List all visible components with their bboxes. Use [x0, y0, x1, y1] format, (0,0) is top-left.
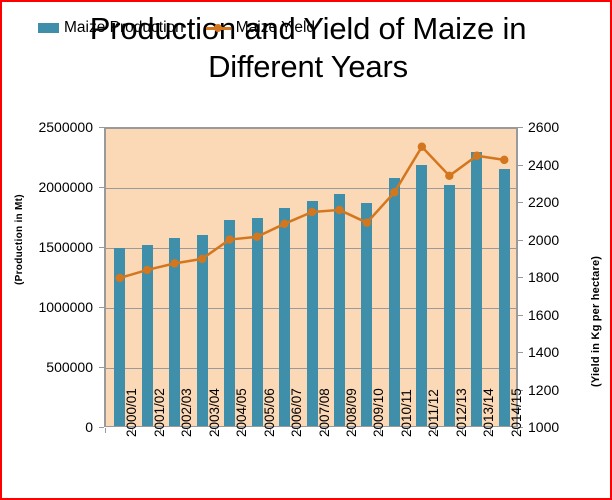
- y-axis-right-tick-label: 2200: [528, 194, 559, 210]
- yield-marker: [225, 235, 233, 243]
- yield-marker: [363, 218, 371, 226]
- x-axis-tick-label: 2012/13: [454, 388, 469, 437]
- x-axis-tick-label: 2003/04: [207, 388, 222, 437]
- chart-legend: Maize Production Maize Yield: [38, 19, 315, 37]
- legend-item-maize-yield[interactable]: Maize Yield: [206, 19, 315, 37]
- y-axis-right-tick: [518, 202, 523, 203]
- yield-marker: [280, 220, 288, 228]
- y-axis-right-tick-label: 1000: [528, 419, 559, 435]
- x-axis-tick-label: 2004/05: [234, 388, 249, 437]
- y-axis-left-tick: [99, 367, 104, 368]
- y-axis-right-tick-label: 1600: [528, 307, 559, 323]
- yield-marker: [500, 156, 508, 164]
- y-axis-right-tick: [518, 315, 523, 316]
- legend-label-maize-production: Maize Production: [64, 19, 184, 37]
- x-axis-tick-label: 2005/06: [262, 388, 277, 437]
- x-axis-tick-label: 2006/07: [289, 388, 304, 437]
- x-axis-tick-label: 2010/11: [399, 389, 414, 437]
- y-axis-right-title: (Yield in Kg per hectare): [590, 256, 602, 387]
- yield-marker: [308, 208, 316, 216]
- legend-label-maize-yield: Maize Yield: [236, 19, 315, 37]
- yield-marker: [418, 143, 426, 151]
- y-axis-left-tick-label: 2500000: [2, 119, 93, 135]
- x-axis-tick-label: 2011/12: [426, 389, 441, 437]
- y-axis-left-tick: [99, 427, 104, 428]
- x-axis-tick-label: 2000/01: [124, 388, 139, 437]
- y-axis-left-title: (Production in Mt): [14, 194, 25, 285]
- y-axis-right-tick: [518, 127, 523, 128]
- x-axis-tick-label: 2008/09: [344, 388, 359, 437]
- x-axis-tick-label: 2001/02: [152, 388, 167, 437]
- yield-marker: [335, 206, 343, 214]
- yield-marker: [170, 259, 178, 267]
- x-axis-tick-label: 2009/10: [371, 388, 386, 437]
- x-axis-tick-label: 2013/14: [481, 388, 496, 437]
- y-axis-left-spine: [104, 127, 105, 427]
- chart-container: Production and Yield of Maize in Differe…: [0, 0, 612, 500]
- legend-swatch-bar-icon: [38, 23, 59, 33]
- y-axis-left-tick: [99, 187, 104, 188]
- y-axis-left-tick-label: 500000: [2, 359, 93, 375]
- y-axis-left-tick: [99, 127, 104, 128]
- y-axis-left-tick-label: 2000000: [2, 179, 93, 195]
- x-axis-tick-label: 2007/08: [317, 388, 332, 437]
- y-axis-left-tick: [99, 307, 104, 308]
- yield-marker: [445, 172, 453, 180]
- yield-markers: [116, 143, 509, 283]
- y-axis-right-tick-label: 2600: [528, 119, 559, 135]
- y-axis-right-tick-label: 2400: [528, 157, 559, 173]
- x-axis-tick-label: 2002/03: [179, 388, 194, 437]
- y-axis-right-tick: [518, 352, 523, 353]
- legend-swatch-line-icon: [206, 23, 231, 33]
- y-axis-left-tick-label: 0: [2, 419, 93, 435]
- y-axis-left-tick: [99, 247, 104, 248]
- y-axis-right-tick-label: 1400: [528, 344, 559, 360]
- x-axis-tick: [105, 428, 106, 433]
- y-axis-right-tick: [518, 240, 523, 241]
- y-axis-right-tick: [518, 277, 523, 278]
- line-series-maize-yield: [106, 128, 518, 428]
- legend-item-maize-production[interactable]: Maize Production: [38, 19, 184, 37]
- y-axis-left-tick-label: 1000000: [2, 299, 93, 315]
- yield-marker: [116, 274, 124, 282]
- yield-marker: [253, 233, 261, 241]
- yield-marker: [198, 255, 206, 263]
- x-axis-tick-label: 2014/15: [509, 388, 524, 437]
- yield-marker: [473, 152, 481, 160]
- y-axis-right-tick: [518, 165, 523, 166]
- y-axis-right-tick-label: 1200: [528, 382, 559, 398]
- yield-marker: [390, 188, 398, 196]
- y-axis-right-tick-label: 1800: [528, 269, 559, 285]
- yield-marker: [143, 266, 151, 274]
- y-axis-right-tick-label: 2000: [528, 232, 559, 248]
- plot-area: [105, 127, 517, 427]
- chart-title-line-2: Different Years: [208, 49, 408, 84]
